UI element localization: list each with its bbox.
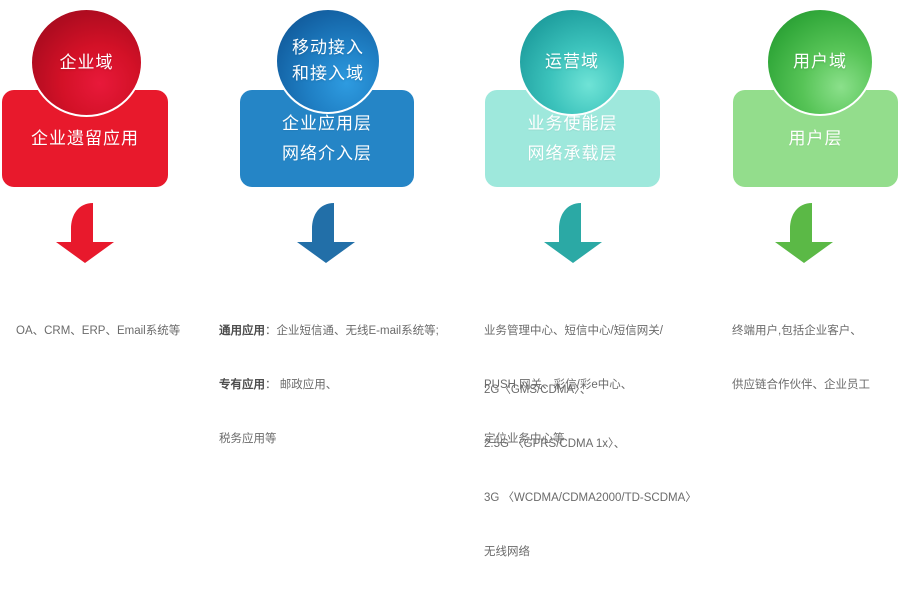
caption-text: ：企业短信通、无线E-mail系统等;: [265, 325, 439, 337]
arrow-down-icon: [771, 202, 837, 264]
caption-line: 2G〈GMS/CDMA〉、: [484, 381, 697, 399]
arrow-down-red: [52, 202, 118, 264]
caption-mobile-access-domain: 通用应用：企业短信通、无线E-mail系统等; 专有应用： 邮政应用、 税务应用…: [219, 286, 439, 484]
arrow-down-icon: [52, 202, 118, 264]
circle-mobile-access-domain[interactable]: 移动接入 和接入域: [275, 8, 381, 114]
circle-label: 和接入域: [292, 61, 364, 87]
caption-text: ： 邮政应用、: [265, 379, 337, 391]
caption-operation-networks: 2G〈GMS/CDMA〉、 2.5G 〈GPRS/CDMA 1x〉、 3G 〈W…: [484, 345, 697, 597]
circle-label: 用户域: [793, 49, 847, 75]
circle-label: 企业域: [60, 50, 114, 76]
caption-line: 3G 〈WCDMA/CDMA2000/TD-SCDMA〉: [484, 489, 697, 507]
caption-line: 业务管理中心、短信中心/短信网关/: [484, 322, 663, 340]
caption-line: OA、CRM、ERP、Email系统等: [16, 322, 180, 340]
panel-line: 网络介入层: [282, 139, 372, 169]
circle-label: 运营域: [545, 49, 599, 75]
panel-line: 企业遗留应用: [31, 124, 139, 154]
caption-label: 通用应用: [219, 325, 265, 337]
arrow-down-blue: [293, 202, 359, 264]
circle-operation-domain[interactable]: 运营域: [518, 8, 626, 116]
caption-line: 终端用户,包括企业客户、: [732, 322, 870, 340]
arrow-down-icon: [540, 202, 606, 264]
caption-line: 无线网络: [484, 543, 697, 561]
caption-line: 供应链合作伙伴、企业员工: [732, 376, 870, 394]
caption-line: 税务应用等: [219, 430, 439, 448]
caption-user-domain: 终端用户,包括企业客户、 供应链合作伙伴、企业员工: [732, 286, 870, 430]
caption-enterprise-domain: OA、CRM、ERP、Email系统等: [16, 286, 180, 376]
architecture-diagram: 企业遗留应用 企业域 OA、CRM、ERP、Email系统等 企业应用层 网络介…: [0, 0, 900, 404]
arrow-down-green: [771, 202, 837, 264]
circle-label: 移动接入: [292, 35, 364, 61]
panel-line: 用户层: [789, 124, 843, 154]
panel-line: 网络承载层: [528, 139, 618, 169]
arrow-down-teal: [540, 202, 606, 264]
circle-enterprise-domain[interactable]: 企业域: [30, 8, 143, 117]
caption-label: 专有应用: [219, 379, 265, 391]
circle-user-domain[interactable]: 用户域: [766, 8, 874, 116]
arrow-down-icon: [293, 202, 359, 264]
caption-line: 2.5G 〈GPRS/CDMA 1x〉、: [484, 435, 697, 453]
caption-line: 通用应用：企业短信通、无线E-mail系统等;: [219, 322, 439, 340]
caption-line: 专有应用： 邮政应用、: [219, 376, 439, 394]
